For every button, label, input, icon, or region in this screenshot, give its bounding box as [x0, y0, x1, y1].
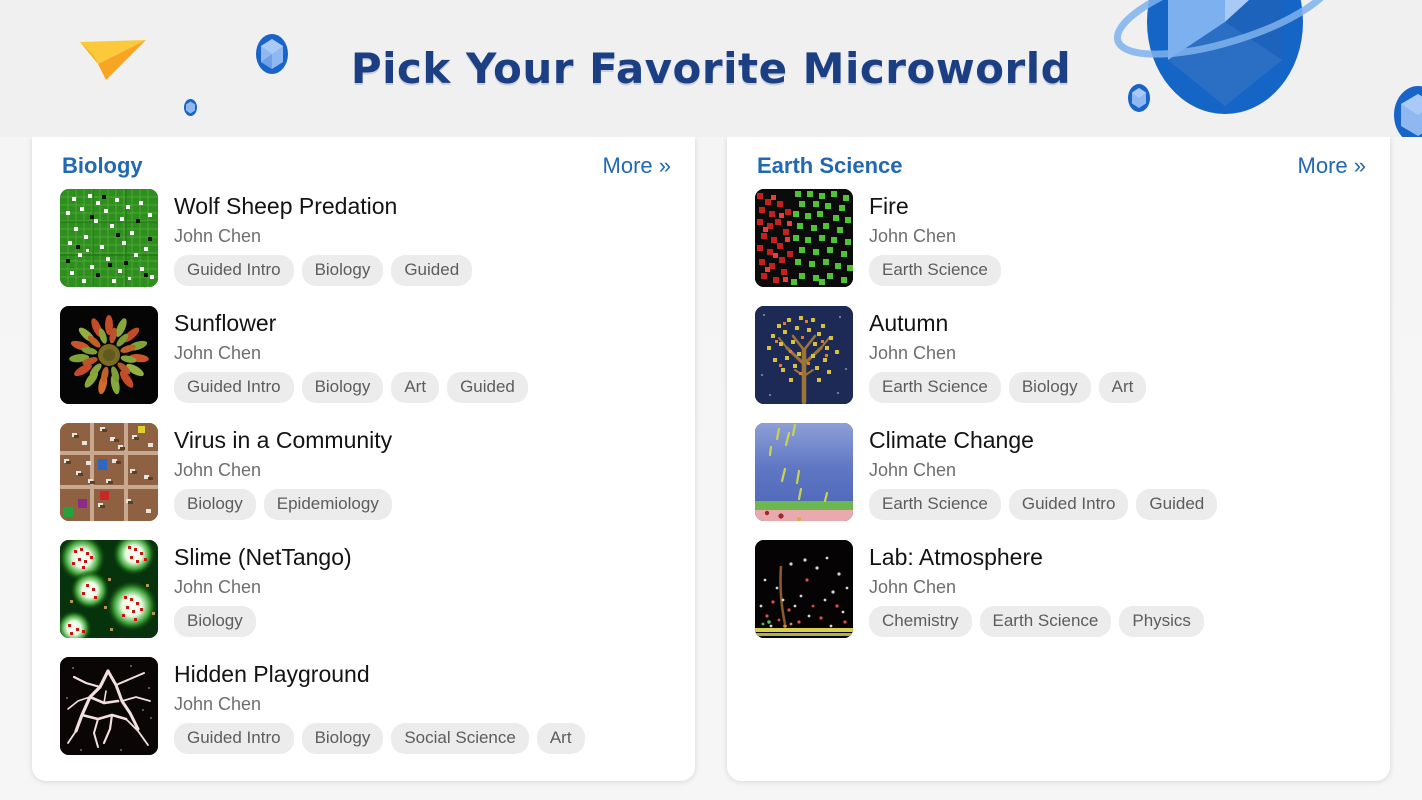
tag[interactable]: Social Science: [391, 723, 529, 754]
card-virus-in-a-community[interactable]: Virus in a Community John Chen Biology E…: [32, 417, 695, 534]
card-author: John Chen: [174, 572, 352, 602]
tag[interactable]: Biology: [302, 255, 384, 286]
card-title: Autumn: [869, 308, 1146, 338]
tag[interactable]: Art: [1099, 372, 1147, 403]
card-body: Sunflower John Chen Guided Intro Biology…: [158, 306, 528, 403]
card-author: John Chen: [869, 572, 1204, 602]
tag[interactable]: Guided: [1136, 489, 1217, 520]
sunflower-thumbnail: [60, 306, 158, 404]
tag[interactable]: Chemistry: [869, 606, 972, 637]
card-autumn[interactable]: Autumn John Chen Earth Science Biology A…: [727, 300, 1390, 417]
hidden-playground-thumbnail: [60, 657, 158, 755]
card-author: John Chen: [869, 338, 1146, 368]
card-title: Sunflower: [174, 308, 528, 338]
more-link-biology[interactable]: More »: [603, 153, 671, 179]
panel-earth-science: Earth Science More »: [727, 137, 1390, 781]
card-title: Climate Change: [869, 425, 1217, 455]
tag[interactable]: Biology: [1009, 372, 1091, 403]
tag[interactable]: Epidemiology: [264, 489, 392, 520]
card-hidden-playground[interactable]: Hidden Playground John Chen Guided Intro…: [32, 651, 695, 768]
tag[interactable]: Earth Science: [980, 606, 1112, 637]
tag[interactable]: Guided Intro: [174, 723, 294, 754]
autumn-thumbnail: [755, 306, 853, 404]
card-author: John Chen: [174, 689, 585, 719]
card-title: Virus in a Community: [174, 425, 392, 455]
panel-header-earth-science: Earth Science More »: [727, 147, 1390, 183]
tag[interactable]: Guided: [447, 372, 528, 403]
tag[interactable]: Guided Intro: [174, 372, 294, 403]
card-body: Slime (NetTango) John Chen Biology: [158, 540, 352, 637]
card-author: John Chen: [174, 455, 392, 485]
tag[interactable]: Guided Intro: [174, 255, 294, 286]
card-body: Hidden Playground John Chen Guided Intro…: [158, 657, 585, 754]
card-author: John Chen: [869, 455, 1217, 485]
panel-title-biology[interactable]: Biology: [62, 153, 143, 179]
tag[interactable]: Guided: [391, 255, 472, 286]
virus-in-a-community-thumbnail: [60, 423, 158, 521]
card-tags: Biology Epidemiology: [174, 489, 392, 520]
card-slime-nettango[interactable]: Slime (NetTango) John Chen Biology: [32, 534, 695, 651]
card-tags: Chemistry Earth Science Physics: [869, 606, 1204, 637]
card-list-earth-science: Fire John Chen Earth Science: [727, 183, 1390, 651]
card-author: John Chen: [869, 221, 1001, 251]
tag[interactable]: Biology: [174, 489, 256, 520]
card-body: Wolf Sheep Predation John Chen Guided In…: [158, 189, 472, 286]
card-body: Lab: Atmosphere John Chen Chemistry Eart…: [853, 540, 1204, 637]
tag[interactable]: Biology: [174, 606, 256, 637]
panel-header-biology: Biology More »: [32, 147, 695, 183]
card-lab-atmosphere[interactable]: Lab: Atmosphere John Chen Chemistry Eart…: [727, 534, 1390, 651]
tag[interactable]: Art: [537, 723, 585, 754]
card-wolf-sheep-predation[interactable]: Wolf Sheep Predation John Chen Guided In…: [32, 183, 695, 300]
card-tags: Guided Intro Biology Social Science Art: [174, 723, 585, 754]
card-body: Virus in a Community John Chen Biology E…: [158, 423, 392, 520]
tag[interactable]: Earth Science: [869, 372, 1001, 403]
page-title: Pick Your Favorite Microworld: [0, 44, 1422, 93]
gem-icon-small: [184, 99, 197, 116]
tag[interactable]: Earth Science: [869, 255, 1001, 286]
microworld-picker-page: Pick Your Favorite Microworld Biology Mo…: [0, 0, 1422, 800]
card-title: Slime (NetTango): [174, 542, 352, 572]
card-tags: Earth Science Guided Intro Guided: [869, 489, 1217, 520]
wolf-sheep-predation-thumbnail: [60, 189, 158, 287]
card-fire[interactable]: Fire John Chen Earth Science: [727, 183, 1390, 300]
card-climate-change[interactable]: Climate Change John Chen Earth Science G…: [727, 417, 1390, 534]
card-title: Fire: [869, 191, 1001, 221]
card-tags: Guided Intro Biology Art Guided: [174, 372, 528, 403]
tag[interactable]: Guided Intro: [1009, 489, 1129, 520]
tag[interactable]: Art: [391, 372, 439, 403]
card-title: Wolf Sheep Predation: [174, 191, 472, 221]
card-tags: Earth Science: [869, 255, 1001, 286]
lab-atmosphere-thumbnail: [755, 540, 853, 638]
tag[interactable]: Biology: [302, 372, 384, 403]
card-title: Lab: Atmosphere: [869, 542, 1204, 572]
climate-change-thumbnail: [755, 423, 853, 521]
slime-nettango-thumbnail: [60, 540, 158, 638]
panel-title-earth-science[interactable]: Earth Science: [757, 153, 903, 179]
tag[interactable]: Biology: [302, 723, 384, 754]
panel-container: Biology More »: [0, 137, 1422, 800]
card-tags: Earth Science Biology Art: [869, 372, 1146, 403]
card-author: John Chen: [174, 221, 472, 251]
card-body: Fire John Chen Earth Science: [853, 189, 1001, 286]
card-tags: Biology: [174, 606, 352, 637]
gem-icon-edge: [1394, 86, 1422, 137]
fire-thumbnail: [755, 189, 853, 287]
card-body: Climate Change John Chen Earth Science G…: [853, 423, 1217, 520]
tag[interactable]: Physics: [1119, 606, 1204, 637]
card-tags: Guided Intro Biology Guided: [174, 255, 472, 286]
card-list-biology: Wolf Sheep Predation John Chen Guided In…: [32, 183, 695, 768]
card-author: John Chen: [174, 338, 528, 368]
card-sunflower[interactable]: Sunflower John Chen Guided Intro Biology…: [32, 300, 695, 417]
tag[interactable]: Earth Science: [869, 489, 1001, 520]
card-title: Hidden Playground: [174, 659, 585, 689]
panel-biology: Biology More »: [32, 137, 695, 781]
more-link-earth-science[interactable]: More »: [1298, 153, 1366, 179]
page-header: Pick Your Favorite Microworld: [0, 0, 1422, 137]
card-body: Autumn John Chen Earth Science Biology A…: [853, 306, 1146, 403]
